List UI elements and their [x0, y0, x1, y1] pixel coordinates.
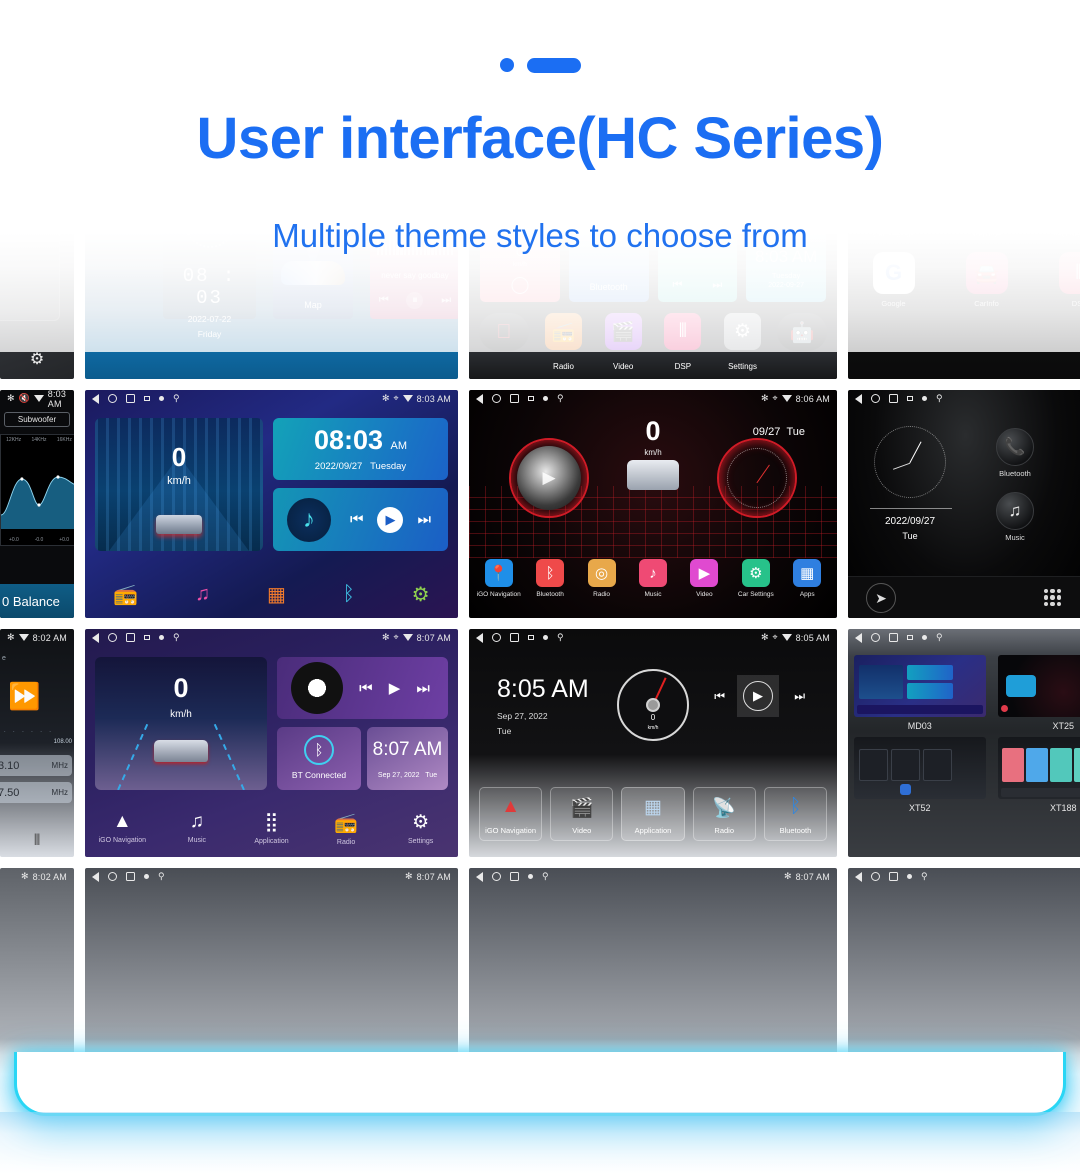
music-controls[interactable]: ⏮ ▶ ⏭: [343, 488, 438, 551]
preset-2[interactable]: 7.50 MHz: [0, 782, 72, 803]
music-note-icon: ♪: [639, 559, 667, 587]
gauge-hub: [646, 698, 660, 712]
date-text: 2022/09/27: [854, 516, 966, 527]
wifi-icon: [34, 395, 44, 402]
theme-preview: [998, 737, 1080, 799]
bottom-glow-frame: [14, 1052, 1066, 1116]
theme-option-md03[interactable]: MD03: [854, 655, 986, 731]
car-graphic: [154, 740, 208, 762]
phone-icon: 📞: [996, 428, 1034, 466]
wifi-icon: [403, 634, 413, 641]
dock-label: Video: [551, 826, 612, 835]
preset-frequency: 7.50: [0, 787, 19, 799]
dock-label: Application: [622, 826, 683, 835]
status-clock: 8:05 AM: [796, 633, 830, 643]
analog-clock-icon: [727, 448, 787, 508]
gear-icon: ⚙: [742, 559, 770, 587]
back-icon[interactable]: [92, 633, 99, 643]
dock-item-igo-navigation[interactable]: ▲iGO Navigation: [479, 787, 542, 841]
clock-time: 08:03: [314, 425, 383, 455]
next-icon[interactable]: ⏭: [794, 689, 805, 704]
dock-item-radio[interactable]: ◎Radio: [576, 559, 627, 598]
divider: [870, 508, 952, 509]
dock-item-bluetooth[interactable]: ᛒBluetooth: [764, 787, 827, 841]
recents-icon[interactable]: [510, 633, 519, 642]
dock-label: iGO Navigation: [473, 591, 524, 598]
car-graphic: [627, 460, 679, 490]
prev-icon[interactable]: ⏮: [714, 689, 725, 704]
home-icon[interactable]: [108, 872, 117, 881]
location-icon: ⌖: [394, 394, 399, 403]
gallery-cell-row3-col3[interactable]: ⚲ ✻ ⌖ 8:05 AM 8:05 AM Sep 27, 2022 Tue 0…: [469, 629, 837, 857]
dock-label: Apps: [782, 591, 833, 598]
clock-day: Tue: [425, 772, 437, 779]
music-note-icon: ♪: [287, 498, 331, 542]
gallery-cell-row3-col1[interactable]: ✻ 8:02 AM e ⏩ · · · · · · 108.00 3.10 MH…: [0, 629, 74, 857]
clock-ampm: AM: [391, 440, 408, 452]
record-icon: [543, 396, 548, 401]
navigation-arrow-icon: ▲: [480, 796, 541, 818]
gallery-cell-row2-col4[interactable]: ⚲ 2022/09/27 Tue 📞 Bluetooth ♫ Music ➤: [848, 390, 1080, 618]
lane-line-left: [117, 724, 148, 790]
home-icon[interactable]: [871, 394, 880, 403]
theme-preview: [854, 737, 986, 799]
bluetooth-widget[interactable]: ᛒ BT Connected: [277, 727, 361, 790]
dock-item-igo-navigation[interactable]: 📍iGO Navigation: [473, 559, 524, 598]
speed-unit: km/h: [95, 475, 263, 487]
usb-icon: ⚲: [936, 394, 943, 403]
dock-item-music[interactable]: ♫Music: [160, 811, 235, 844]
recents-icon[interactable]: [510, 872, 519, 881]
back-icon[interactable]: [92, 394, 99, 404]
dock-item-bluetooth[interactable]: ᛒBluetooth: [524, 559, 575, 598]
header-decoration: [0, 55, 1080, 75]
scale-value: 108.00: [54, 739, 72, 745]
dock-label: Radio: [694, 826, 755, 835]
status-clock: 8:03 AM: [48, 390, 67, 409]
deco-bar: [527, 58, 581, 73]
frequency-ticks: 12KHz14KHz16KHz: [1, 437, 74, 443]
gallery-cell-row2-col3[interactable]: ⚲ ✻ ⌖ 8:06 AM 0 km/h 09/27 Tue ▶ 📍iGO Na…: [469, 390, 837, 618]
recents-icon[interactable]: [126, 872, 135, 881]
music-widget[interactable]: ♪ ⏮ ▶ ⏭: [273, 488, 448, 551]
bluetooth-icon: ✻: [7, 633, 15, 642]
dock-bar: ▲iGO Navigation 🎬Video ▦Application 📡Rad…: [479, 787, 827, 841]
play-button[interactable]: ▶: [737, 675, 779, 717]
bluetooth-icon: ✻: [405, 872, 413, 881]
home-icon[interactable]: [492, 633, 501, 642]
dock-item-igo-navigation[interactable]: ▲iGO Navigation: [85, 811, 160, 844]
speed-hud-widget[interactable]: 0 km/h: [95, 418, 263, 551]
theme-label: XT188: [998, 803, 1080, 813]
play-icon[interactable]: ▶: [542, 468, 555, 488]
status-clock: 8:07 AM: [796, 872, 830, 882]
record-icon: [159, 635, 164, 640]
preset-unit: MHz: [52, 761, 68, 770]
bluetooth-icon: ✻: [7, 394, 15, 403]
settings-icon[interactable]: ⚙: [412, 582, 430, 607]
theme-preview: [854, 655, 986, 717]
prev-icon[interactable]: ⏮: [359, 680, 373, 697]
bluetooth-icon[interactable]: ᛒ: [343, 583, 355, 606]
gain-ticks: +0.0-0.0+0.0: [1, 537, 74, 543]
record-icon: [159, 396, 164, 401]
shortcut-bluetooth[interactable]: 📞 Bluetooth: [996, 428, 1034, 478]
clock-widget[interactable]: 8:07 AM Sep 27, 2022 Tue: [367, 727, 448, 790]
status-clock: 8:07 AM: [417, 872, 451, 882]
dock-item-radio[interactable]: 📻Radio: [309, 811, 384, 846]
bluetooth-icon: ✻: [761, 633, 769, 642]
dock-label: Music: [627, 591, 678, 598]
dock-item-video[interactable]: ▶Video: [679, 559, 730, 598]
usb-icon: ⚲: [173, 394, 180, 403]
home-icon[interactable]: [492, 394, 501, 403]
subwoofer-button[interactable]: Subwoofer: [4, 412, 70, 427]
back-icon[interactable]: [855, 872, 862, 882]
screenshot-icon: [528, 396, 534, 401]
dock-label: Radio: [537, 362, 591, 371]
shortcut-music[interactable]: ♫ Music: [996, 492, 1034, 542]
theme-option-xt188[interactable]: XT188: [998, 737, 1080, 813]
back-icon[interactable]: [476, 872, 483, 882]
record-icon: [922, 396, 927, 401]
status-clock: 8:07 AM: [417, 633, 451, 643]
theme-preview: [998, 655, 1080, 717]
recents-icon[interactable]: [889, 394, 898, 403]
record-icon: [907, 874, 912, 879]
bt-status-label: BT Connected: [277, 770, 361, 780]
screenshot-icon: [528, 635, 534, 640]
wifi-icon: [403, 395, 413, 402]
radio-icon[interactable]: 📻: [113, 582, 138, 607]
usb-icon: ⚲: [173, 633, 180, 642]
vinyl-record-icon: [291, 662, 343, 714]
status-clock: 8:02 AM: [33, 633, 67, 643]
play-icon[interactable]: ▶: [377, 507, 403, 533]
music-note-icon: ♫: [996, 492, 1034, 530]
theme-option-xt52[interactable]: XT52: [854, 737, 986, 813]
dock-label: Bluetooth: [524, 591, 575, 598]
location-icon: ⌖: [773, 394, 778, 403]
speed-value: 0: [95, 673, 267, 704]
preset-1[interactable]: 3.10 MHz: [0, 755, 72, 776]
shortcut-label: Bluetooth: [996, 469, 1034, 478]
dock-label: Radio: [576, 591, 627, 598]
music-widget[interactable]: ⏮ ▶ ⏭: [277, 657, 448, 719]
speed-unit: km/h: [95, 709, 267, 720]
apps-grid-icon: ⣿: [234, 811, 309, 834]
dock-label: Bluetooth: [765, 826, 826, 835]
preset-frequency: 3.10: [0, 760, 19, 772]
analog-clock-icon: [874, 426, 946, 498]
gear-icon[interactable]: ⚙: [30, 349, 44, 369]
wifi-icon: [782, 634, 792, 641]
gear-icon: ⚙: [383, 811, 458, 834]
dock-label: Car Settings: [730, 591, 781, 598]
location-pin-icon: 📍: [485, 559, 513, 587]
usb-icon: ⚲: [936, 633, 943, 642]
balance-label: Balance: [13, 594, 60, 609]
dock-label: iGO Navigation: [480, 826, 541, 835]
home-icon[interactable]: [871, 633, 880, 642]
dock-label: Application: [234, 838, 309, 845]
dock-label: Radio: [309, 839, 384, 846]
usb-icon: ⚲: [921, 872, 928, 881]
day-text: Tue: [854, 531, 966, 541]
theme-label: XT52: [854, 803, 986, 813]
back-icon[interactable]: [855, 394, 862, 404]
lane-line-right: [214, 724, 245, 790]
theme-option-xt25[interactable]: XT25: [998, 655, 1080, 731]
radio-icon: ◎: [588, 559, 616, 587]
balance-value: 0: [2, 594, 9, 609]
next-icon[interactable]: ⏭: [417, 511, 431, 528]
usb-icon: ⚲: [557, 633, 564, 642]
dock-item-settings[interactable]: ⚙Settings: [383, 811, 458, 845]
apps-icon[interactable]: ▦: [267, 582, 286, 607]
back-icon[interactable]: [92, 872, 99, 882]
play-icon: ▶: [690, 559, 718, 587]
record-icon: [528, 874, 533, 879]
mute-icon: 🔇: [19, 393, 30, 404]
location-icon: ⌖: [773, 633, 778, 642]
clock-day: Tuesday: [370, 461, 406, 472]
speed-value: 0: [95, 442, 263, 473]
speedometer-gauge[interactable]: 0km/h: [617, 669, 689, 741]
recents-icon[interactable]: [126, 633, 135, 642]
clock-date: 2022/09/27: [315, 461, 363, 472]
dock-label: Music: [160, 837, 235, 844]
dock-bar: 📻 ♫ ▦ ᛒ ⚙: [85, 570, 458, 618]
back-icon[interactable]: [476, 633, 483, 643]
theme-grid: MD03 XT25: [854, 655, 1080, 813]
radio-icon: 📻: [309, 811, 384, 835]
record-icon: [144, 874, 149, 879]
bluetooth-icon: ᛒ: [304, 735, 334, 765]
dock-bar: 📍iGO Navigation ᛒBluetooth ◎Radio ♪Music…: [469, 559, 837, 615]
dock-label: DSP: [656, 362, 710, 371]
home-icon[interactable]: [871, 872, 880, 881]
fast-forward-icon[interactable]: ⏩: [8, 681, 40, 712]
back-icon[interactable]: [855, 633, 862, 643]
page-subtitle: Multiple theme styles to choose from: [0, 212, 1080, 260]
radio-icon: 📡: [694, 796, 755, 820]
play-icon: ▶: [743, 681, 773, 711]
dock-bar: ▲iGO Navigation ♫Music ⣿Application 📻Rad…: [85, 807, 458, 857]
dock-label: Video: [596, 362, 650, 371]
apps-grid-icon: ▦: [793, 559, 821, 587]
deco-dot: [500, 58, 514, 72]
home-icon[interactable]: [492, 872, 501, 881]
dock-label: Video: [679, 591, 730, 598]
dock-item-application[interactable]: ▦Application: [621, 787, 684, 841]
usb-icon: ⚲: [542, 872, 549, 881]
day-text: Tue: [786, 426, 805, 438]
music-note-icon: ♫: [160, 811, 235, 833]
screenshot-icon: [907, 396, 913, 401]
recents-icon[interactable]: [510, 394, 519, 403]
clock-ring-widget[interactable]: [717, 438, 797, 518]
wifi-icon: [782, 395, 792, 402]
status-clock: 8:02 AM: [33, 872, 67, 882]
screenshot-icon: [144, 396, 150, 401]
bottom-bar: ➤: [848, 576, 1080, 618]
recents-icon[interactable]: [126, 394, 135, 403]
dock-label: iGO Navigation: [85, 837, 160, 844]
page-title: User interface(HC Series): [0, 100, 1080, 178]
date-text: 09/27: [753, 426, 781, 438]
play-icon[interactable]: ▶: [389, 679, 401, 697]
usb-icon: ⚲: [158, 872, 165, 881]
home-icon[interactable]: [108, 394, 117, 403]
next-icon[interactable]: ⏭: [416, 680, 430, 697]
home-icon[interactable]: [108, 633, 117, 642]
record-icon: [922, 635, 927, 640]
dock-item-radio[interactable]: 📡Radio: [693, 787, 756, 841]
gauge-unit: km/h: [648, 725, 659, 731]
bluetooth-icon: ᛒ: [536, 559, 564, 587]
screenshot-icon: [144, 635, 150, 640]
equalizer-icon[interactable]: ⦀: [34, 832, 41, 849]
recents-icon[interactable]: [889, 872, 898, 881]
gallery-cell-row3-col4[interactable]: ⚲ MD03: [848, 629, 1080, 857]
media-ring-widget[interactable]: ▶: [509, 438, 589, 518]
frequency-scale: · · · · · ·: [4, 729, 74, 735]
compass-icon[interactable]: ➤: [866, 583, 896, 613]
record-icon: [543, 635, 548, 640]
usb-icon: ⚲: [557, 394, 564, 403]
prev-icon[interactable]: ⏮: [350, 511, 364, 528]
shortcut-label: Music: [996, 533, 1034, 542]
location-icon: ⌖: [394, 633, 399, 642]
dock-item-car-settings[interactable]: ⚙Car Settings: [730, 559, 781, 598]
apps-grid-icon[interactable]: [1044, 589, 1061, 606]
dock-label: Settings: [716, 362, 770, 371]
day-text: Tue: [497, 726, 511, 736]
music-icon[interactable]: ♫: [195, 583, 210, 606]
bluetooth-icon: ᛒ: [765, 796, 826, 818]
dock-item-video[interactable]: 🎬Video: [550, 787, 613, 841]
clock-date: Sep 27, 2022: [378, 772, 420, 779]
gallery-cell-row2-col1[interactable]: ✻ 🔇 8:03 AM Subwoofer 12KHz14KHz16KHz +0…: [0, 390, 74, 618]
equalizer-graph[interactable]: 12KHz14KHz16KHz +0.0-0.0+0.0: [0, 434, 74, 546]
station-text: e: [2, 655, 6, 662]
back-icon[interactable]: [476, 394, 483, 404]
wifi-icon: [19, 634, 29, 641]
preset-unit: MHz: [52, 788, 68, 797]
car-graphic: [156, 515, 202, 534]
recents-icon[interactable]: [889, 633, 898, 642]
gallery-cell-row2-col2[interactable]: ⚲ ✻ ⌖ 8:03 AM 0 km/h 08:03 AM 2022/09/27…: [85, 390, 458, 618]
bottom-glow-light: [0, 1112, 1080, 1174]
date-text: Sep 27, 2022: [497, 711, 548, 721]
dock-item-apps[interactable]: ▦Apps: [782, 559, 833, 598]
dock-item-application[interactable]: ⣿Application: [234, 811, 309, 845]
navigation-arrow-icon: ▲: [85, 811, 160, 833]
status-clock: 8:03 AM: [417, 394, 451, 404]
clock-time: 8:05 AM: [497, 675, 589, 704]
bluetooth-icon: ✻: [784, 872, 792, 881]
bluetooth-icon: ✻: [761, 394, 769, 403]
dock-item-music[interactable]: ♪Music: [627, 559, 678, 598]
shortcut-list: 📞 Bluetooth ♫ Music: [996, 428, 1034, 542]
theme-label: MD03: [854, 721, 986, 731]
video-icon: 🎬: [551, 796, 612, 820]
balance-control[interactable]: 0 Balance: [0, 584, 74, 618]
status-clock: 8:06 AM: [796, 394, 830, 404]
bluetooth-icon: ✻: [382, 633, 390, 642]
screenshot-icon: [907, 635, 913, 640]
clock-time: 8:07 AM: [367, 739, 448, 761]
music-controls[interactable]: ⏮ ▶ ⏭: [351, 657, 438, 719]
apps-grid-icon: ▦: [622, 796, 683, 819]
theme-label: XT25: [998, 721, 1080, 731]
bluetooth-icon: ✻: [382, 394, 390, 403]
bluetooth-icon: ✻: [21, 872, 29, 881]
dock-label: Settings: [383, 838, 458, 845]
gallery-cell-row3-col2[interactable]: ⚲ ✻ ⌖ 8:07 AM 0 km/h ⏮ ▶ ⏭: [85, 629, 458, 857]
speed-hud-widget[interactable]: 0 km/h: [95, 657, 267, 790]
gauge-value: 0: [651, 713, 655, 722]
clock-widget[interactable]: 08:03 AM 2022/09/27 Tuesday: [273, 418, 448, 480]
